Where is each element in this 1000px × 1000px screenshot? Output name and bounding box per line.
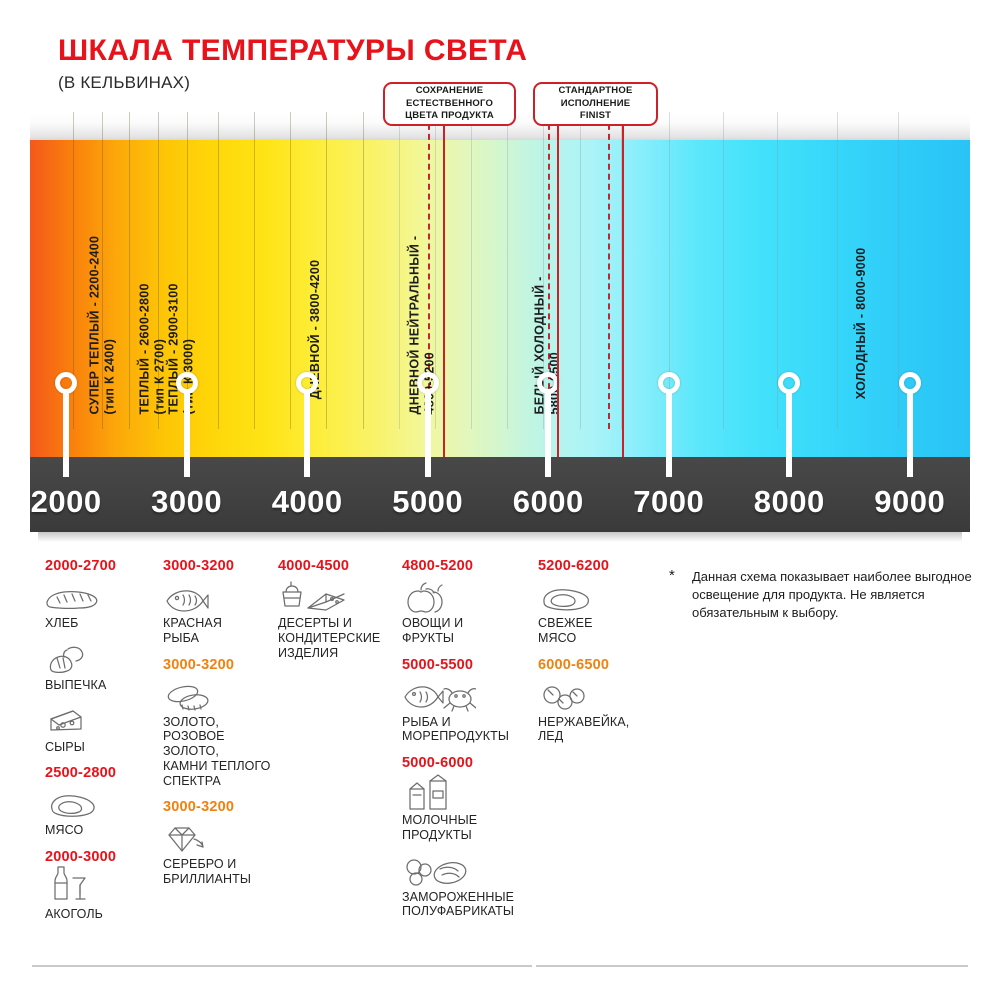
product-group: 5200-6200СВЕЖЕЕМЯСО (538, 558, 658, 646)
callout-line: ЦВЕТА ПРОДУКТА (405, 110, 494, 123)
band-label-6: ХОЛОДНЫЙ - 8000-9000 (854, 247, 869, 399)
product-column-4: 5200-6200СВЕЖЕЕМЯСО6000-6500НЕРЖАВЕЙКА,Л… (538, 558, 658, 755)
product-group: 4000-4500ДЕСЕРТЫ ИКОНДИТЕРСКИЕИЗДЕЛИЯ (278, 558, 403, 660)
marker-ring-icon (899, 372, 921, 394)
temperature-range-label: 4800-5200 (402, 558, 532, 574)
band-divider (254, 112, 255, 429)
temperature-range-label: 5000-5500 (402, 657, 532, 673)
product-item: ХЛЕБ (45, 580, 163, 631)
seafood-icon (402, 679, 532, 713)
band-divider (399, 112, 400, 429)
product-label: ВЫПЕЧКА (45, 678, 163, 693)
product-column-3: 4800-5200ОВОЩИ ИФРУКТЫ5000-5500РЫБА ИМОР… (402, 558, 532, 930)
scale-tick-7000 (666, 437, 672, 477)
band-divider (290, 112, 291, 429)
temperature-range-label: 2000-2700 (45, 558, 163, 574)
product-item: НЕРЖАВЕЙКА,ЛЕД (538, 679, 658, 745)
callout-line: СТАНДАРТНОЕ (559, 85, 633, 98)
temperature-range-label: 6000-6500 (538, 657, 658, 673)
product-item: РЫБА ИМОРЕПРОДУКТЫ (402, 679, 532, 745)
band-label-2: ТЕПЛЫЙ - 2900-3100(тип К 3000) (167, 283, 198, 414)
product-item: СЫРЫ (45, 704, 163, 755)
product-group: 3000-3200КРАСНАЯРЫБА (163, 558, 281, 646)
cheese-icon (45, 704, 163, 738)
product-label: КРАСНАЯРЫБА (163, 616, 281, 646)
product-column-1: 3000-3200КРАСНАЯРЫБА3000-3200ЗОЛОТО,РОЗО… (163, 558, 281, 898)
gold-rings-icon (163, 679, 281, 713)
meat-icon (45, 787, 163, 821)
red-fish-icon (163, 580, 281, 614)
product-item: МЯСО (45, 787, 163, 838)
band-divider (471, 112, 472, 429)
product-column-0: 2000-2700ХЛЕБВЫПЕЧКАСЫРЫ2500-2800МЯСО200… (45, 558, 163, 933)
band-label-1: ТЕПЛЫЙ - 2600-2800(тип К 2700) (138, 283, 169, 414)
pastry-icon (45, 642, 163, 676)
product-label: СЫРЫ (45, 740, 163, 755)
product-label: МЯСО (45, 823, 163, 838)
callout-box-0: СОХРАНЕНИЕЕСТЕСТВЕННОГОЦВЕТА ПРОДУКТА (383, 82, 516, 126)
product-group: 2000-3000АКОГОЛЬ (45, 849, 163, 922)
product-group: 2500-2800МЯСО (45, 765, 163, 838)
product-item: ДЕСЕРТЫ ИКОНДИТЕРСКИЕИЗДЕЛИЯ (278, 580, 403, 660)
marker-ring-icon (417, 372, 439, 394)
product-item: ЗОЛОТО,РОЗОВОЕ ЗОЛОТО,КАМНИ ТЕПЛОГОСПЕКТ… (163, 679, 281, 789)
product-group: 5000-6000МОЛОЧНЫЕ ПРОДУКТЫЗАМОРОЖЕННЫЕПО… (402, 755, 532, 919)
product-label: РЫБА ИМОРЕПРОДУКТЫ (402, 715, 532, 745)
product-label: АКОГОЛЬ (45, 907, 163, 922)
temperature-range-label: 2500-2800 (45, 765, 163, 781)
scale-tick-4000 (304, 437, 310, 477)
callout-line: ЕСТЕСТВЕННОГО (405, 98, 494, 111)
band-label-line1: ХОЛОДНЫЙ - 8000-9000 (854, 247, 868, 399)
kelvin-scale-bar: 20003000400050006000700080009000 (30, 457, 970, 532)
marker-ring-icon (55, 372, 77, 394)
product-column-2: 4000-4500ДЕСЕРТЫ ИКОНДИТЕРСКИЕИЗДЕЛИЯ (278, 558, 403, 671)
bottom-rule-right (536, 965, 968, 967)
product-item: СЕРЕБРО ИБРИЛЛИАНТЫ (163, 821, 281, 887)
product-label: ЗОЛОТО,РОЗОВОЕ ЗОЛОТО,КАМНИ ТЕПЛОГОСПЕКТ… (163, 715, 281, 789)
temperature-range-label: 3000-3200 (163, 799, 281, 815)
temperature-band: СУПЕР ТЕПЛЫЙ - 2200-2400(тип К 2400)ТЕПЛ… (30, 112, 970, 457)
product-label: ХЛЕБ (45, 616, 163, 631)
band-divider (218, 112, 219, 429)
band-label-line1: СУПЕР ТЕПЛЫЙ - 2200-2400 (88, 236, 102, 415)
band-divider (326, 112, 327, 429)
scale-number-8000: 8000 (754, 484, 825, 520)
dairy-icon (402, 777, 532, 811)
product-label: СВЕЖЕЕМЯСО (538, 616, 658, 646)
page-title: ШКАЛА ТЕМПЕРАТУРЫ СВЕТА (58, 36, 527, 66)
product-item: МОЛОЧНЫЕ ПРОДУКТЫ (402, 777, 532, 843)
fruit-vegetable-icon (402, 580, 532, 614)
scale-number-5000: 5000 (392, 484, 463, 520)
marker-ring-icon (296, 372, 318, 394)
dessert-icon (278, 580, 403, 614)
scale-number-3000: 3000 (151, 484, 222, 520)
scale-tick-2000 (63, 437, 69, 477)
product-label: НЕРЖАВЕЙКА,ЛЕД (538, 715, 658, 745)
product-group: 3000-3200ЗОЛОТО,РОЗОВОЕ ЗОЛОТО,КАМНИ ТЕП… (163, 657, 281, 789)
band-label-line1: ТЕПЛЫЙ - 2600-2800 (138, 283, 152, 414)
temperature-range-label: 3000-3200 (163, 657, 281, 673)
ice-icon (538, 679, 658, 713)
product-group: 6000-6500НЕРЖАВЕЙКА,ЛЕД (538, 657, 658, 745)
band-divider (837, 112, 838, 429)
frozen-food-icon (402, 854, 532, 888)
product-item: ОВОЩИ ИФРУКТЫ (402, 580, 532, 646)
band-label-line2: (тип К 2400) (103, 236, 118, 415)
callout-line: ИСПОЛНЕНИЕ (559, 98, 633, 111)
callout-stem-1 (557, 126, 559, 457)
product-label: МОЛОЧНЫЕ ПРОДУКТЫ (402, 813, 532, 843)
callout-box-1: СТАНДАРТНОЕИСПОЛНЕНИЕFINIST (533, 82, 658, 126)
scale-tick-3000 (184, 437, 190, 477)
footnote-star: * (669, 567, 675, 584)
product-label: СЕРЕБРО ИБРИЛЛИАНТЫ (163, 857, 281, 887)
temperature-range-label: 3000-3200 (163, 558, 281, 574)
scale-tick-5000 (425, 437, 431, 477)
product-item: ВЫПЕЧКА (45, 642, 163, 693)
bottom-rule-left (32, 965, 532, 967)
callout-line: FINIST (559, 110, 633, 123)
band-label-line1: ТЕПЛЫЙ - 2900-3100 (167, 283, 181, 414)
product-item: АКОГОЛЬ (45, 871, 163, 922)
product-item: СВЕЖЕЕМЯСО (538, 580, 658, 646)
bread-icon (45, 580, 163, 614)
marker-ring-icon (658, 372, 680, 394)
scale-tick-6000 (545, 437, 551, 477)
fresh-meat-icon (538, 580, 658, 614)
product-group: 3000-3200СЕРЕБРО ИБРИЛЛИАНТЫ (163, 799, 281, 887)
band-divider (507, 112, 508, 429)
temperature-range-label: 5200-6200 (538, 558, 658, 574)
temperature-range-label: 4000-4500 (278, 558, 403, 574)
footnote-text: Данная схема показывает наиболее выгодно… (692, 568, 982, 623)
scale-number-2000: 2000 (31, 484, 102, 520)
band-divider (363, 112, 364, 429)
scale-number-7000: 7000 (633, 484, 704, 520)
temperature-range-label: 5000-6000 (402, 755, 532, 771)
product-group: 2000-2700ХЛЕБВЫПЕЧКАСЫРЫ (45, 558, 163, 754)
scale-number-6000: 6000 (513, 484, 584, 520)
band-label-0: СУПЕР ТЕПЛЫЙ - 2200-2400(тип К 2400) (88, 236, 119, 415)
product-item: ЗАМОРОЖЕННЫЕПОЛУФАБРИКАТЫ (402, 854, 532, 920)
product-label: ОВОЩИ ИФРУКТЫ (402, 616, 532, 646)
scale-tick-9000 (907, 437, 913, 477)
band-divider (580, 112, 581, 429)
diamond-icon (163, 821, 281, 855)
alcohol-icon (45, 871, 163, 905)
product-item: КРАСНАЯРЫБА (163, 580, 281, 646)
callout-stem-0 (443, 126, 445, 457)
band-divider (129, 112, 130, 429)
callout-line: СОХРАНЕНИЕ (405, 85, 494, 98)
product-label: ДЕСЕРТЫ ИКОНДИТЕРСКИЕИЗДЕЛИЯ (278, 616, 403, 660)
product-label: ЗАМОРОЖЕННЫЕПОЛУФАБРИКАТЫ (402, 890, 532, 920)
product-group: 5000-5500РЫБА ИМОРЕПРОДУКТЫ (402, 657, 532, 745)
product-group: 4800-5200ОВОЩИ ИФРУКТЫ (402, 558, 532, 646)
scale-number-9000: 9000 (874, 484, 945, 520)
callout-stem-2 (622, 126, 624, 457)
infographic-root: ШКАЛА ТЕМПЕРАТУРЫ СВЕТА (В КЕЛЬВИНАХ) СО… (0, 0, 1000, 1000)
dashed-guide-line-2 (608, 84, 610, 429)
marker-ring-icon (176, 372, 198, 394)
scale-tick-8000 (786, 437, 792, 477)
scale-number-4000: 4000 (272, 484, 343, 520)
band-divider (723, 112, 724, 429)
